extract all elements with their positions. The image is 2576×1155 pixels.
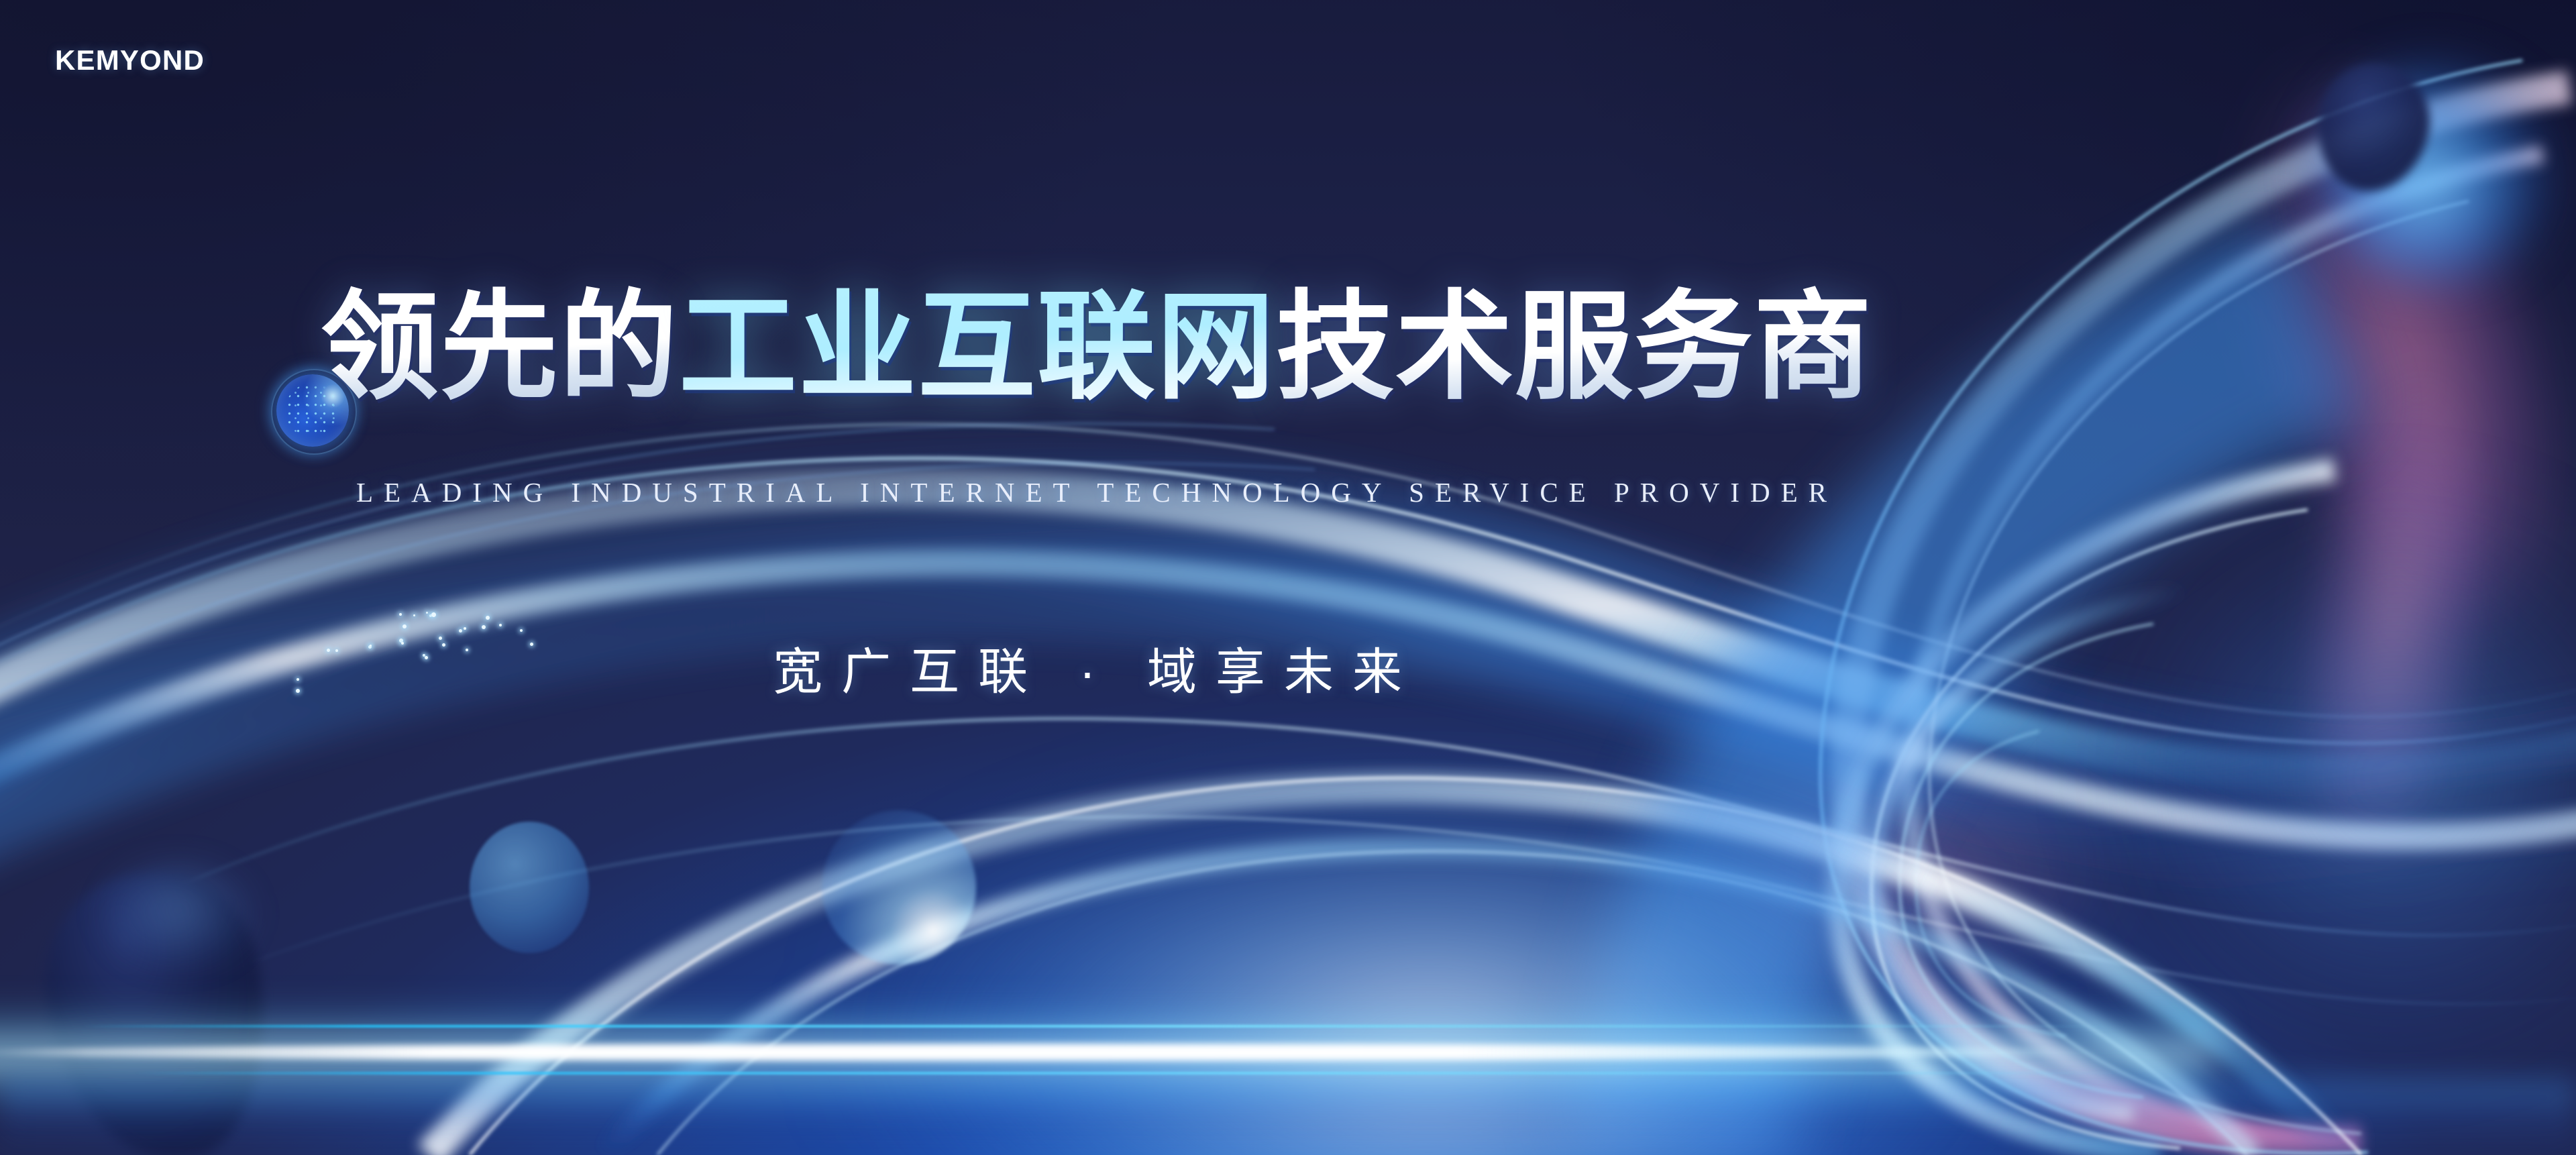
headline-part-2: 工业互联网: [679, 282, 1276, 413]
light-beam-thin-upper: [80, 1025, 2127, 1028]
subtitle-english: LEADING INDUSTRIAL INTERNET TECHNOLOGY S…: [0, 476, 2194, 508]
bottom-glow: [0, 1080, 2576, 1155]
background-corner-shade-right: [1546, 0, 2576, 531]
headline-part-3: 技术服务商: [1276, 282, 1873, 413]
light-beam-thin-lower: [134, 1072, 2147, 1075]
brand-logo[interactable]: KEMYOND: [55, 44, 205, 76]
horizontal-light-beam: [0, 1044, 2106, 1061]
tagline: 宽广互联 · 域享未来: [0, 632, 2194, 704]
hero-banner: KEMYOND 领先的工业互联网技术服务商 LEADING INDUSTRIAL…: [0, 0, 2576, 1155]
page-title: 领先的工业互联网技术服务商: [0, 288, 2194, 406]
headline-part-1: 领先的: [321, 282, 679, 413]
